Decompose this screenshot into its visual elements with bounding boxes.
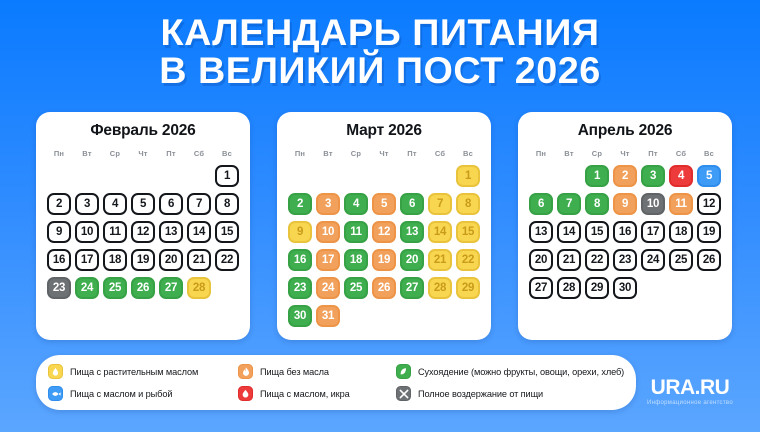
day-cell[interactable]: 29 (583, 275, 611, 300)
day-cell[interactable]: 26 (129, 275, 157, 300)
weekday-label: Чт (129, 149, 157, 158)
day-cell[interactable]: 18 (667, 219, 695, 244)
day-cell[interactable]: 15 (454, 219, 482, 244)
day-number-yellow[interactable]: 29 (456, 277, 480, 299)
weekday-label: Вт (314, 149, 342, 158)
day-number-green[interactable]: 7 (557, 193, 581, 215)
day-cell[interactable]: 27 (157, 275, 185, 300)
day-number-yellow[interactable]: 15 (456, 221, 480, 243)
day-cell[interactable]: 14 (185, 219, 213, 244)
day-cell[interactable]: 26 (695, 247, 723, 272)
legend-label: Пища с растительным маслом (70, 367, 198, 377)
day-cell[interactable]: 1 (213, 163, 241, 188)
day-cell[interactable]: 10 (639, 191, 667, 216)
day-cell[interactable]: 3 (639, 163, 667, 188)
weekday-label: Пн (45, 149, 73, 158)
day-cell-empty (314, 163, 342, 188)
day-cell[interactable]: 25 (342, 275, 370, 300)
oil-drop-icon (48, 364, 63, 379)
weekday-label: Пн (527, 149, 555, 158)
day-number-plain[interactable]: 28 (557, 277, 581, 299)
day-cell[interactable]: 8 (213, 191, 241, 216)
day-number-orange[interactable]: 12 (372, 221, 396, 243)
calendar-card: Апрель 2026ПнВтСрЧтПтСбВс123456789101112… (518, 112, 732, 340)
weekday-header-row: ПнВтСрЧтПтСбВс (286, 149, 482, 158)
day-cell[interactable]: 14 (426, 219, 454, 244)
day-cell[interactable]: 9 (611, 191, 639, 216)
weekday-label: Пт (157, 149, 185, 158)
day-cell[interactable]: 8 (583, 191, 611, 216)
day-cell[interactable]: 17 (73, 247, 101, 272)
day-cell-empty (45, 163, 73, 188)
day-number-orange[interactable]: 19 (372, 249, 396, 271)
day-number-plain[interactable]: 12 (697, 193, 721, 215)
day-cell[interactable]: 12 (695, 191, 723, 216)
day-number-yellow[interactable]: 7 (428, 193, 452, 215)
day-number-orange[interactable]: 2 (613, 165, 637, 187)
day-cell[interactable]: 13 (398, 219, 426, 244)
weekday-label: Чт (611, 149, 639, 158)
day-cell[interactable]: 2 (286, 191, 314, 216)
day-number-orange[interactable]: 10 (316, 221, 340, 243)
weekday-label: Вс (454, 149, 482, 158)
day-cell[interactable]: 28 (555, 275, 583, 300)
day-number-plain[interactable]: 27 (529, 277, 553, 299)
days-grid: 1234567891011121314151617181920212223242… (286, 163, 482, 328)
day-number-gray[interactable]: 23 (47, 277, 71, 299)
page-title: КАЛЕНДАРЬ ПИТАНИЯ В ВЕЛИКИЙ ПОСТ 2026 (0, 14, 760, 90)
day-cell[interactable]: 30 (286, 303, 314, 328)
day-cell[interactable]: 27 (527, 275, 555, 300)
day-number-green[interactable]: 16 (288, 249, 312, 271)
day-number-green[interactable]: 3 (641, 165, 665, 187)
day-cell[interactable]: 5 (129, 191, 157, 216)
day-number-green[interactable]: 2 (288, 193, 312, 215)
day-number-plain[interactable]: 25 (669, 249, 693, 271)
weekday-label: Вт (555, 149, 583, 158)
weekday-header-row: ПнВтСрЧтПтСбВс (527, 149, 723, 158)
day-cell[interactable]: 19 (695, 219, 723, 244)
legend-item: Пища с растительным маслом (48, 364, 238, 379)
day-cell[interactable]: 9 (45, 219, 73, 244)
day-cell[interactable]: 15 (213, 219, 241, 244)
legend-item: Полное воздержание от пищи (396, 386, 624, 401)
day-cell-empty (73, 163, 101, 188)
day-cell[interactable]: 25 (101, 275, 129, 300)
day-cell-empty (129, 163, 157, 188)
day-cell[interactable]: 15 (583, 219, 611, 244)
legend-label: Пища с маслом и рыбой (70, 389, 172, 399)
day-number-green[interactable]: 20 (400, 249, 424, 271)
day-cell[interactable]: 22 (213, 247, 241, 272)
day-cell[interactable]: 13 (527, 219, 555, 244)
day-cell[interactable]: 7 (426, 191, 454, 216)
day-cell-empty (555, 163, 583, 188)
day-cell[interactable]: 21 (185, 247, 213, 272)
day-number-yellow[interactable]: 28 (187, 277, 211, 299)
day-cell[interactable]: 8 (454, 191, 482, 216)
day-cell[interactable]: 24 (639, 247, 667, 272)
day-cell[interactable]: 29 (454, 275, 482, 300)
day-cell[interactable]: 10 (314, 219, 342, 244)
day-number-orange[interactable]: 11 (669, 193, 693, 215)
day-number-plain[interactable]: 5 (131, 193, 155, 215)
day-cell[interactable]: 19 (370, 247, 398, 272)
day-cell[interactable]: 24 (73, 275, 101, 300)
day-number-plain[interactable]: 14 (557, 221, 581, 243)
day-cell[interactable]: 21 (426, 247, 454, 272)
day-number-green[interactable]: 18 (344, 249, 368, 271)
day-number-green[interactable]: 13 (400, 221, 424, 243)
day-cell[interactable]: 31 (314, 303, 342, 328)
calendar-cards-container: Февраль 2026ПнВтСрЧтПтСбВс12345678910111… (36, 112, 732, 340)
day-number-plain[interactable]: 29 (585, 277, 609, 299)
legend-label: Пища без масла (260, 367, 329, 377)
day-cell[interactable]: 12 (370, 219, 398, 244)
weekday-label: Пт (398, 149, 426, 158)
day-number-orange[interactable]: 17 (316, 249, 340, 271)
day-number-orange[interactable]: 3 (316, 193, 340, 215)
day-cell-empty (527, 163, 555, 188)
day-cell[interactable]: 28 (426, 275, 454, 300)
day-number-green[interactable]: 23 (288, 277, 312, 299)
day-cell[interactable]: 24 (314, 275, 342, 300)
day-number-plain[interactable]: 8 (215, 193, 239, 215)
day-number-plain[interactable]: 20 (159, 249, 183, 271)
day-number-orange[interactable]: 24 (316, 277, 340, 299)
day-number-plain[interactable]: 13 (529, 221, 553, 243)
day-number-plain[interactable]: 22 (585, 249, 609, 271)
calendar-month-title: Февраль 2026 (45, 122, 241, 140)
day-cell[interactable]: 10 (73, 219, 101, 244)
day-cell[interactable]: 3 (314, 191, 342, 216)
day-number-plain[interactable]: 22 (215, 249, 239, 271)
day-number-green[interactable]: 24 (75, 277, 99, 299)
day-cell[interactable]: 6 (398, 191, 426, 216)
day-cell[interactable]: 6 (157, 191, 185, 216)
day-cell[interactable]: 7 (555, 191, 583, 216)
legend-item: Пища с маслом, икра (238, 386, 396, 401)
day-number-green[interactable]: 26 (131, 277, 155, 299)
day-cell[interactable]: 11 (342, 219, 370, 244)
day-cell-empty (342, 163, 370, 188)
day-cell-empty (101, 163, 129, 188)
day-number-plain[interactable]: 23 (613, 249, 637, 271)
day-cell[interactable]: 12 (129, 219, 157, 244)
day-number-plain[interactable]: 19 (131, 249, 155, 271)
day-cell[interactable]: 1 (454, 163, 482, 188)
day-cell[interactable]: 27 (398, 275, 426, 300)
weekday-label: Сб (426, 149, 454, 158)
day-cell[interactable]: 18 (342, 247, 370, 272)
day-number-plain[interactable]: 1 (215, 165, 239, 187)
day-number-plain[interactable]: 20 (529, 249, 553, 271)
day-number-blue[interactable]: 5 (697, 165, 721, 187)
bread-leaf-icon (396, 364, 411, 379)
day-cell[interactable]: 1 (583, 163, 611, 188)
page-title-line-1: КАЛЕНДАРЬ ПИТАНИЯ (0, 14, 760, 52)
calendar-month-title: Март 2026 (286, 122, 482, 140)
day-cell[interactable]: 21 (555, 247, 583, 272)
day-number-plain[interactable]: 19 (697, 221, 721, 243)
day-cell[interactable]: 4 (342, 191, 370, 216)
day-cell-empty (185, 163, 213, 188)
day-cell[interactable]: 20 (527, 247, 555, 272)
day-cell[interactable]: 14 (555, 219, 583, 244)
ura-ru-logo: URA.RU Информационное агентство (636, 377, 744, 406)
days-grid: 1234567891011121314151617181920212223242… (45, 163, 241, 300)
day-cell[interactable]: 20 (157, 247, 185, 272)
day-cell[interactable]: 11 (667, 191, 695, 216)
day-cell[interactable]: 7 (185, 191, 213, 216)
legend-label: Сухоядение (можно фрукты, овощи, орехи, … (418, 367, 624, 377)
cross-out-icon (396, 386, 411, 401)
day-cell[interactable]: 4 (101, 191, 129, 216)
day-cell[interactable]: 16 (286, 247, 314, 272)
logo-tagline: Информационное агентство (636, 400, 744, 406)
day-number-plain[interactable]: 12 (131, 221, 155, 243)
day-number-yellow[interactable]: 14 (428, 221, 452, 243)
legend-card: Пища с растительным масломПища без масла… (36, 355, 636, 410)
day-cell[interactable]: 2 (611, 163, 639, 188)
day-number-green[interactable]: 25 (344, 277, 368, 299)
day-number-plain[interactable]: 18 (669, 221, 693, 243)
legend-grid: Пища с растительным масломПища без масла… (48, 364, 622, 401)
day-number-gray[interactable]: 10 (641, 193, 665, 215)
weekday-label: Сб (667, 149, 695, 158)
day-cell[interactable]: 18 (101, 247, 129, 272)
day-cell[interactable]: 26 (370, 275, 398, 300)
legend-item: Пища без масла (238, 364, 396, 379)
weekday-label: Пт (639, 149, 667, 158)
day-number-plain[interactable]: 13 (159, 221, 183, 243)
day-number-plain[interactable]: 21 (557, 249, 581, 271)
legend-label: Полное воздержание от пищи (418, 389, 543, 399)
weekday-header-row: ПнВтСрЧтПтСбВс (45, 149, 241, 158)
legend-label: Пища с маслом, икра (260, 389, 350, 399)
day-number-plain[interactable]: 14 (187, 221, 211, 243)
day-number-green[interactable]: 6 (400, 193, 424, 215)
day-cell[interactable]: 13 (157, 219, 185, 244)
day-cell-empty (398, 163, 426, 188)
weekday-label: Ср (342, 149, 370, 158)
day-number-plain[interactable]: 9 (47, 221, 71, 243)
day-number-orange[interactable]: 31 (316, 305, 340, 327)
day-cell[interactable]: 22 (454, 247, 482, 272)
calendar-card: Февраль 2026ПнВтСрЧтПтСбВс12345678910111… (36, 112, 250, 340)
weekday-label: Вс (695, 149, 723, 158)
flame-icon (238, 364, 253, 379)
day-cell[interactable]: 30 (611, 275, 639, 300)
day-number-plain[interactable]: 17 (641, 221, 665, 243)
calendar-month-title: Апрель 2026 (527, 122, 723, 140)
day-number-plain[interactable]: 16 (47, 249, 71, 271)
day-number-red[interactable]: 4 (669, 165, 693, 187)
day-cell[interactable]: 23 (611, 247, 639, 272)
day-cell[interactable]: 22 (583, 247, 611, 272)
day-number-plain[interactable]: 17 (75, 249, 99, 271)
page-title-line-2: В ВЕЛИКИЙ ПОСТ 2026 (0, 52, 760, 90)
day-number-green[interactable]: 27 (400, 277, 424, 299)
day-cell[interactable]: 20 (398, 247, 426, 272)
day-number-green[interactable]: 6 (529, 193, 553, 215)
day-cell[interactable]: 19 (129, 247, 157, 272)
day-number-plain[interactable]: 30 (613, 277, 637, 299)
day-number-plain[interactable]: 24 (641, 249, 665, 271)
days-grid: 1234567891011121314151617181920212223242… (527, 163, 723, 300)
day-number-plain[interactable]: 7 (187, 193, 211, 215)
day-number-green[interactable]: 1 (585, 165, 609, 187)
day-cell-empty (286, 163, 314, 188)
day-number-green[interactable]: 8 (585, 193, 609, 215)
day-number-yellow[interactable]: 9 (288, 221, 312, 243)
day-cell[interactable]: 17 (314, 247, 342, 272)
day-cell[interactable]: 5 (370, 191, 398, 216)
day-cell[interactable]: 28 (185, 275, 213, 300)
day-cell[interactable]: 23 (45, 275, 73, 300)
day-number-green[interactable]: 30 (288, 305, 312, 327)
weekday-label: Вт (73, 149, 101, 158)
day-number-plain[interactable]: 6 (159, 193, 183, 215)
weekday-label: Чт (370, 149, 398, 158)
fish-icon (48, 386, 63, 401)
day-number-plain[interactable]: 2 (47, 193, 71, 215)
day-number-plain[interactable]: 16 (613, 221, 637, 243)
day-cell[interactable]: 5 (695, 163, 723, 188)
day-cell[interactable]: 23 (286, 275, 314, 300)
day-cell-empty (370, 163, 398, 188)
day-number-yellow[interactable]: 21 (428, 249, 452, 271)
day-cell[interactable]: 11 (101, 219, 129, 244)
day-number-orange[interactable]: 5 (372, 193, 396, 215)
day-cell[interactable]: 16 (45, 247, 73, 272)
day-cell[interactable]: 3 (73, 191, 101, 216)
day-number-yellow[interactable]: 1 (456, 165, 480, 187)
day-cell[interactable]: 17 (639, 219, 667, 244)
caviar-icon (238, 386, 253, 401)
day-number-plain[interactable]: 4 (103, 193, 127, 215)
day-number-yellow[interactable]: 8 (456, 193, 480, 215)
legend-item: Пища с маслом и рыбой (48, 386, 238, 401)
day-cell[interactable]: 2 (45, 191, 73, 216)
day-cell[interactable]: 25 (667, 247, 695, 272)
day-number-yellow[interactable]: 28 (428, 277, 452, 299)
day-number-green[interactable]: 27 (159, 277, 183, 299)
weekday-label: Ср (583, 149, 611, 158)
day-number-plain[interactable]: 10 (75, 221, 99, 243)
day-number-plain[interactable]: 11 (103, 221, 127, 243)
weekday-label: Ср (101, 149, 129, 158)
day-cell[interactable]: 4 (667, 163, 695, 188)
day-cell[interactable]: 9 (286, 219, 314, 244)
day-number-plain[interactable]: 18 (103, 249, 127, 271)
day-number-green[interactable]: 11 (344, 221, 368, 243)
day-number-yellow[interactable]: 22 (456, 249, 480, 271)
day-number-plain[interactable]: 21 (187, 249, 211, 271)
day-cell[interactable]: 6 (527, 191, 555, 216)
day-number-plain[interactable]: 15 (585, 221, 609, 243)
day-number-green[interactable]: 25 (103, 277, 127, 299)
day-number-orange[interactable]: 26 (372, 277, 396, 299)
day-number-plain[interactable]: 26 (697, 249, 721, 271)
day-cell-empty (426, 163, 454, 188)
day-number-plain[interactable]: 15 (215, 221, 239, 243)
day-cell-empty (157, 163, 185, 188)
calendar-card: Март 2026ПнВтСрЧтПтСбВс12345678910111213… (277, 112, 491, 340)
weekday-label: Вс (213, 149, 241, 158)
day-number-orange[interactable]: 9 (613, 193, 637, 215)
weekday-label: Пн (286, 149, 314, 158)
logo-wordmark: URA.RU (636, 377, 744, 399)
day-cell[interactable]: 16 (611, 219, 639, 244)
day-number-plain[interactable]: 3 (75, 193, 99, 215)
weekday-label: Сб (185, 149, 213, 158)
legend-item: Сухоядение (можно фрукты, овощи, орехи, … (396, 364, 624, 379)
day-number-green[interactable]: 4 (344, 193, 368, 215)
